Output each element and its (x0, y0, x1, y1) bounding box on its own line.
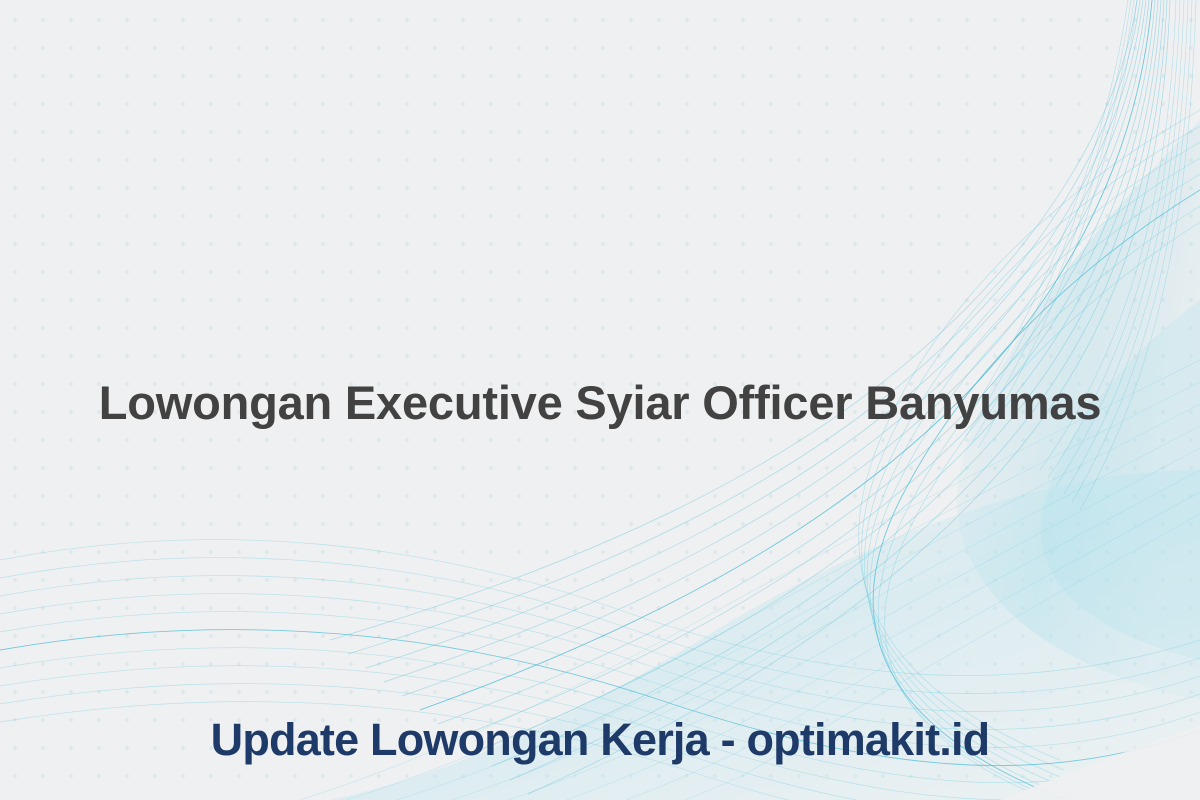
poster-canvas: Lowongan Executive Syiar Officer Banyuma… (0, 0, 1200, 800)
site-tagline: Update Lowongan Kerja - optimakit.id (40, 714, 1160, 766)
hero-title-block: Lowongan Executive Syiar Officer Banyuma… (0, 376, 1200, 430)
footer-tagline-block: Update Lowongan Kerja - optimakit.id (0, 714, 1200, 766)
page-title: Lowongan Executive Syiar Officer Banyuma… (56, 376, 1144, 430)
